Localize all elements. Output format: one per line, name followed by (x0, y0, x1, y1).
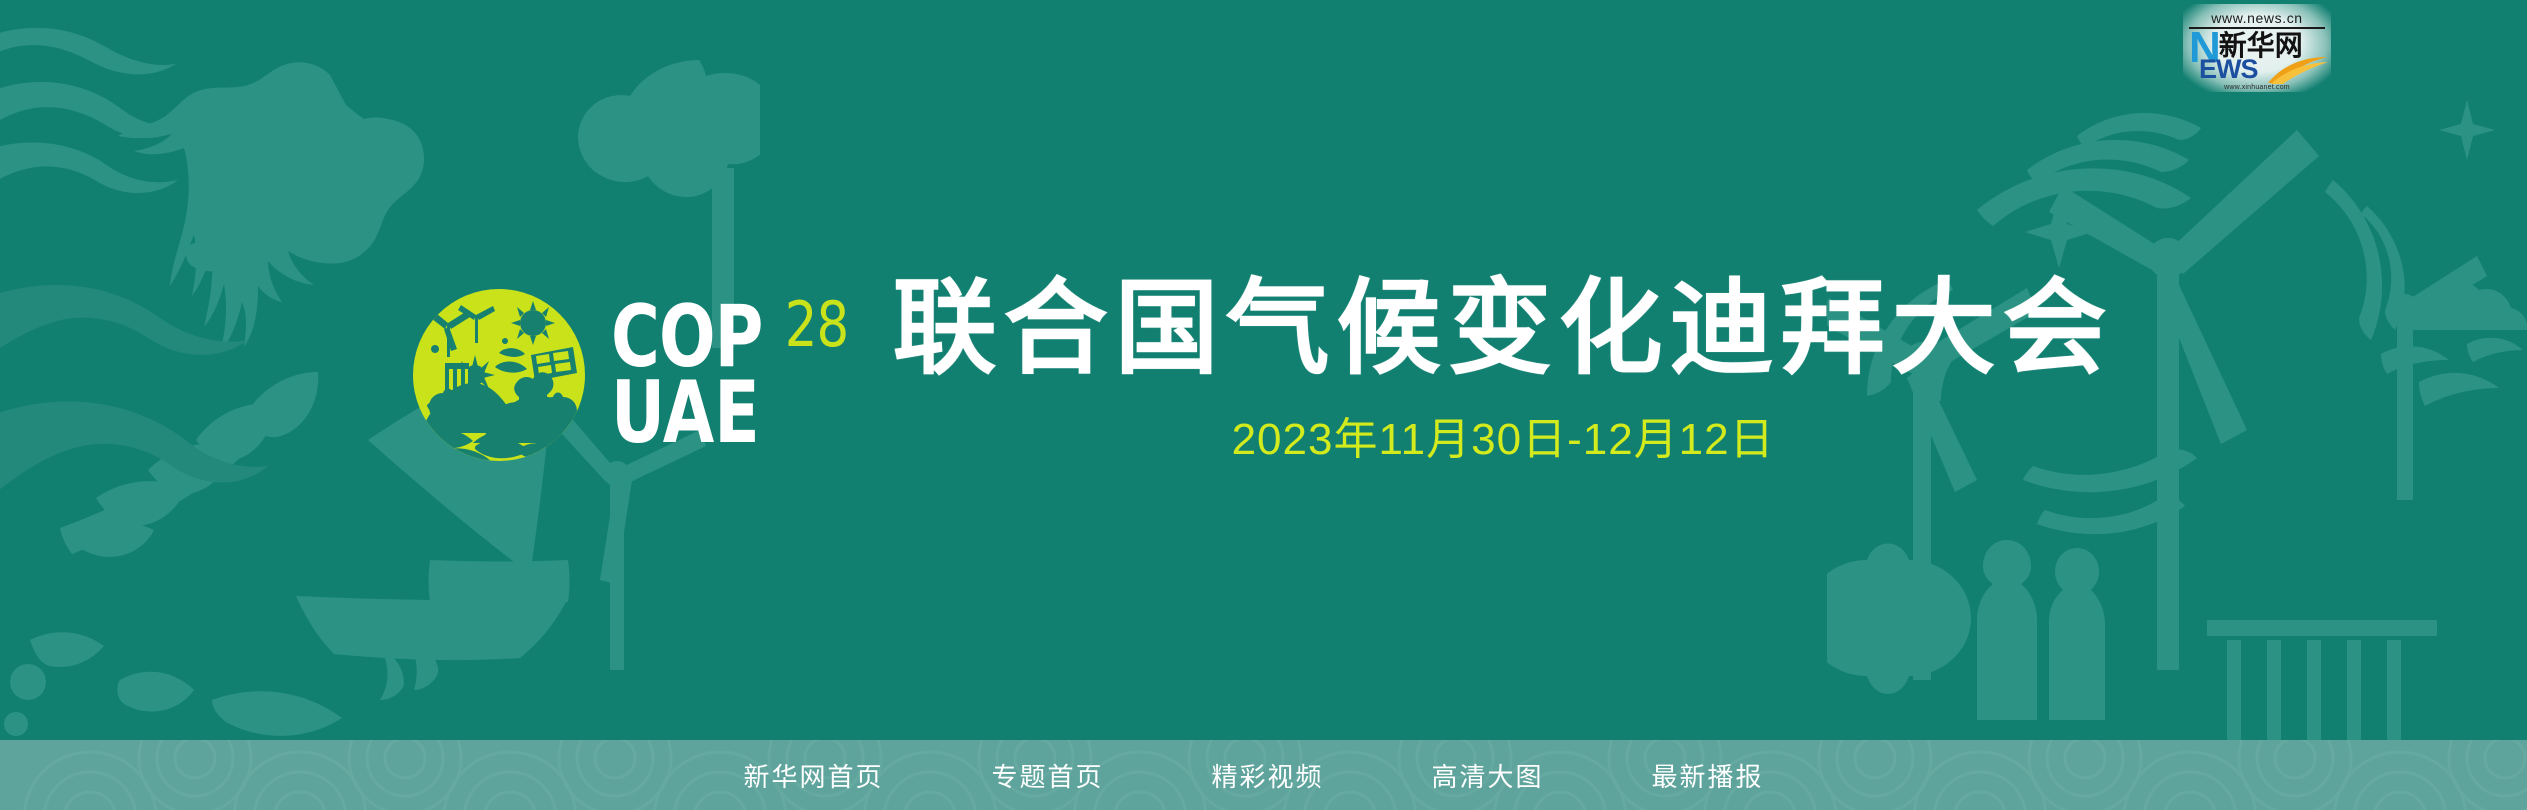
event-date-range: 2023年11月30日-12月12日 (1232, 403, 1775, 467)
nav-item-photos[interactable]: 高清大图 (1432, 757, 1544, 794)
bottom-navigation-bar: 新华网首页专题首页精彩视频高清大图最新播报 (0, 740, 2527, 810)
cop-country: UAE (611, 377, 817, 449)
nav-item-videos[interactable]: 精彩视频 (1211, 757, 1323, 794)
page-title: 联合国气候变化迪拜大会 (893, 273, 2114, 385)
nav-item-xinhua-home[interactable]: 新华网首页 (743, 757, 883, 794)
headline-block: 联合国气候变化迪拜大会 2023年11月30日-12月12日 (893, 273, 2114, 467)
nav-item-list: 新华网首页专题首页精彩视频高清大图最新播报 (743, 757, 1763, 794)
banner-content: COP 28 UAE 联合国气候变化迪拜大会 2023年11月30日-12月12… (0, 0, 2527, 740)
cop28-logo: COP 28 UAE (413, 289, 850, 461)
xinhua-footer-url: www.xinhuanet.com (2189, 84, 2325, 91)
nav-item-latest-news[interactable]: 最新播报 (1652, 757, 1764, 794)
nav-item-topic-home[interactable]: 专题首页 (991, 757, 1103, 794)
xinhua-logo[interactable]: www.news.cn N 新华网 EWS www.xinhuanet.com (2183, 4, 2331, 92)
xinhua-news-word: EWS (2199, 56, 2258, 83)
orange-swoosh-icon (2267, 55, 2329, 85)
cop-number: 28 (784, 299, 847, 351)
cop28-banner-page: COP 28 UAE 联合国气候变化迪拜大会 2023年11月30日-12月12… (0, 0, 2527, 810)
cop28-globe-icon (413, 289, 585, 461)
cop28-wordmark: COP 28 UAE (611, 301, 850, 449)
